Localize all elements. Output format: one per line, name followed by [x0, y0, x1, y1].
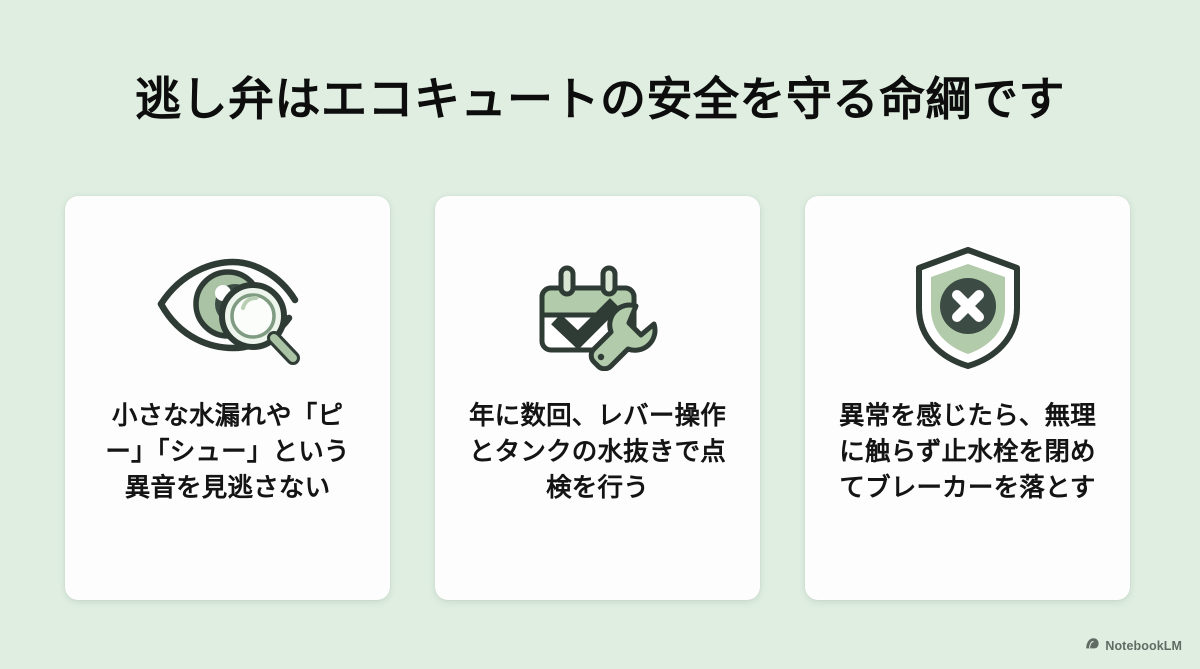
- notebooklm-watermark: NotebookLM: [1085, 637, 1182, 655]
- notebooklm-label: NotebookLM: [1105, 639, 1182, 653]
- calendar-check-wrench-icon: [528, 242, 668, 374]
- eye-magnifier-icon: [153, 242, 303, 374]
- slide-canvas: 逃し弁はエコキュートの安全を守る命綱です 小さな水漏れや「ピー」「シュー」: [0, 0, 1200, 669]
- card-periodic-check[interactable]: 年に数回、レバー操作とタンクの水抜きで点検を行う: [435, 196, 760, 600]
- card-emergency-action[interactable]: 異常を感じたら、無理に触らず止水栓を閉めてブレーカーを落とす: [805, 196, 1130, 600]
- notebooklm-logo-icon: [1085, 637, 1100, 655]
- card-text: 小さな水漏れや「ピー」「シュー」という異音を見逃さない: [94, 398, 362, 507]
- shield-x-icon: [909, 242, 1027, 374]
- card-row: 小さな水漏れや「ピー」「シュー」という異音を見逃さない 年に数回、レバー操作とタ…: [65, 196, 1130, 600]
- card-inspection-signs[interactable]: 小さな水漏れや「ピー」「シュー」という異音を見逃さない: [65, 196, 390, 600]
- page-title: 逃し弁はエコキュートの安全を守る命綱です: [0, 72, 1200, 126]
- card-text: 年に数回、レバー操作とタンクの水抜きで点検を行う: [464, 398, 732, 507]
- card-text: 異常を感じたら、無理に触らず止水栓を閉めてブレーカーを落とす: [834, 398, 1102, 507]
